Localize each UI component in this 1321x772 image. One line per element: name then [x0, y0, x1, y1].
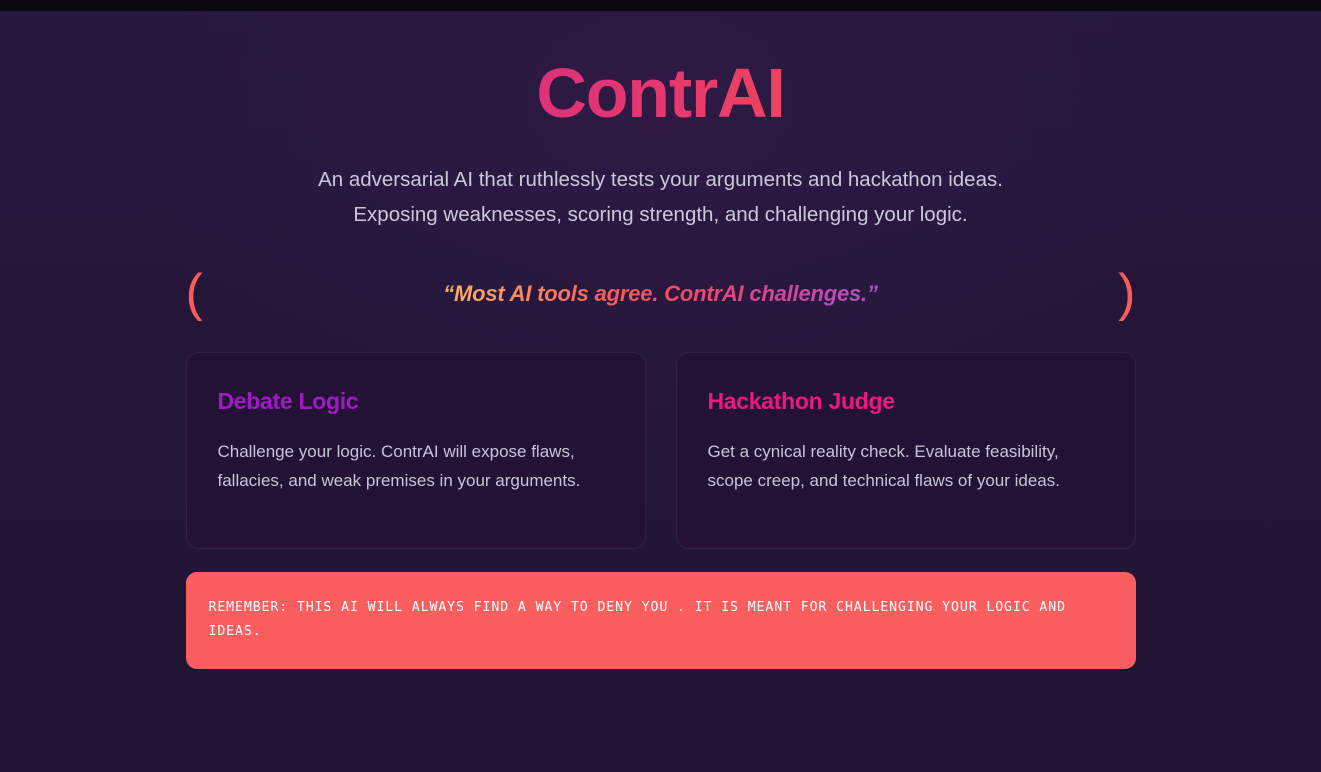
feature-cards: Debate Logic Challenge your logic. Contr… — [186, 352, 1136, 549]
tagline-row: ( “Most AI tools agree. ContrAI challeng… — [186, 266, 1136, 322]
card-debate-logic[interactable]: Debate Logic Challenge your logic. Contr… — [186, 352, 646, 549]
left-parenthesis-decoration: ( — [186, 267, 203, 319]
page-title: ContrAI — [186, 58, 1136, 128]
hero-subtitle: An adversarial AI that ruthlessly tests … — [291, 162, 1031, 232]
right-parenthesis-decoration: ) — [1118, 267, 1135, 319]
tagline-text: “Most AI tools agree. ContrAI challenges… — [443, 281, 878, 307]
warning-banner-text: REMEMBER: THIS AI WILL ALWAYS FIND A WAY… — [209, 596, 1113, 644]
page-content: ContrAI An adversarial AI that ruthlessl… — [186, 11, 1136, 669]
browser-chrome-strip — [0, 0, 1321, 11]
page-root: ContrAI An adversarial AI that ruthlessl… — [0, 11, 1321, 772]
card-body-hackathon-judge: Get a cynical reality check. Evaluate fe… — [708, 437, 1104, 495]
card-title-debate-logic: Debate Logic — [218, 388, 614, 415]
card-hackathon-judge[interactable]: Hackathon Judge Get a cynical reality ch… — [676, 352, 1136, 549]
card-title-hackathon-judge: Hackathon Judge — [708, 388, 1104, 415]
card-body-debate-logic: Challenge your logic. ContrAI will expos… — [218, 437, 614, 495]
warning-banner: REMEMBER: THIS AI WILL ALWAYS FIND A WAY… — [186, 572, 1136, 669]
